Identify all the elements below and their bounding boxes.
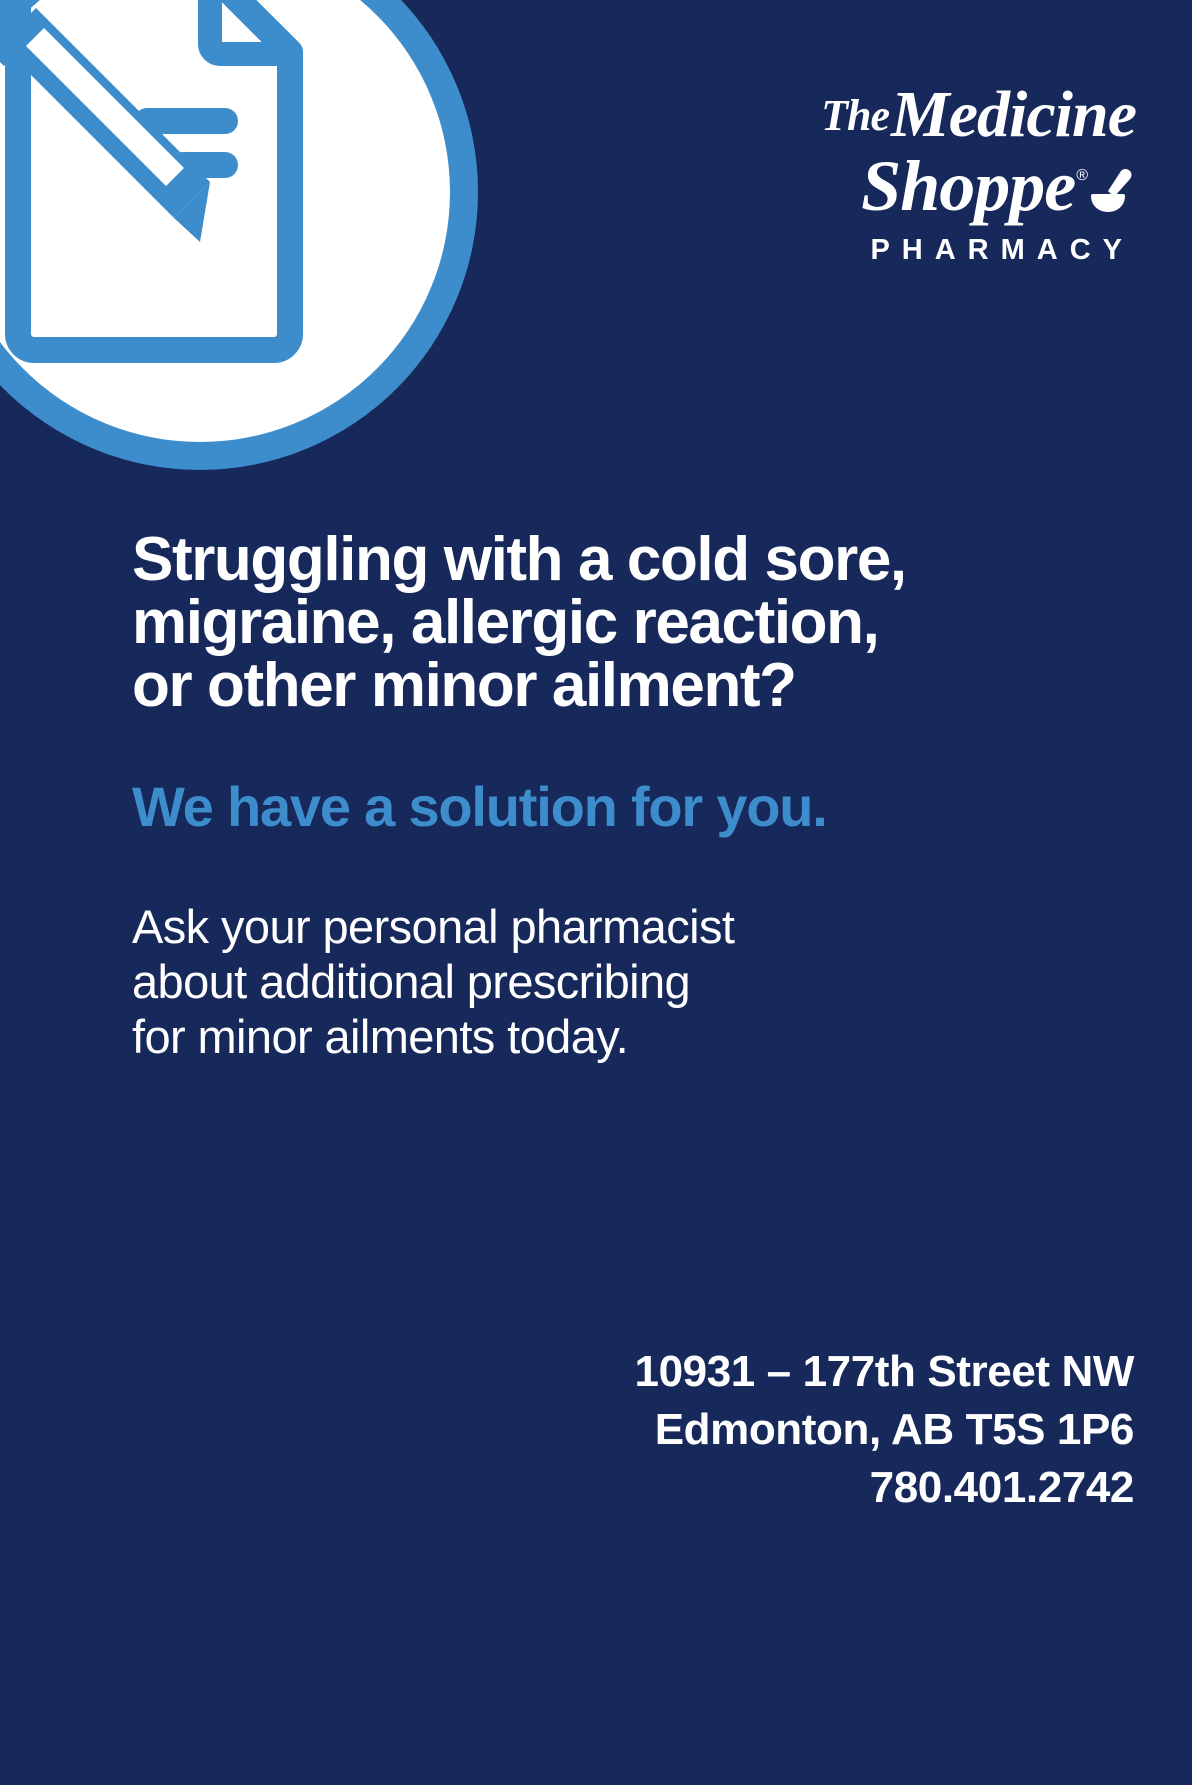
logo-pharmacy: PHARMACY [736, 236, 1136, 265]
logo-the: The [821, 91, 889, 140]
logo-line-shoppe: Shoppe® [736, 150, 1136, 222]
copy-block: Struggling with a cold sore, migraine, a… [132, 528, 982, 1065]
logo-line-medicine: TheMedicine [736, 82, 1136, 148]
body-line-2: about additional prescribing [132, 954, 982, 1009]
prescription-badge [0, 0, 478, 470]
prescription-document-pencil-icon [0, 0, 374, 380]
poster-canvas: TheMedicine Shoppe® PHARMACY Struggling … [0, 0, 1192, 1785]
brand-logo: TheMedicine Shoppe® PHARMACY [736, 82, 1136, 265]
headline-line-3: or other minor ailment? [132, 654, 952, 717]
body-copy: Ask your personal pharmacist about addit… [132, 837, 982, 1065]
headline-line-1: Struggling with a cold sore, [132, 528, 952, 591]
body-line-1: Ask your personal pharmacist [132, 899, 982, 954]
registered-trademark-icon: ® [1076, 167, 1088, 184]
store-address-block: 10931 – 177th Street NW Edmonton, AB T5S… [635, 1343, 1135, 1517]
address-city-postal: Edmonton, AB T5S 1P6 [635, 1401, 1135, 1459]
logo-medicine: Medicine [891, 78, 1136, 151]
headline-line-2: migraine, allergic reaction, [132, 591, 952, 654]
body-line-3: for minor ailments today. [132, 1009, 982, 1064]
store-phone-number[interactable]: 780.401.2742 [635, 1459, 1135, 1517]
headline: Struggling with a cold sore, migraine, a… [132, 528, 952, 718]
tagline: We have a solution for you. [132, 718, 982, 837]
logo-shoppe: Shoppe [861, 146, 1075, 226]
address-street: 10931 – 177th Street NW [635, 1343, 1135, 1401]
mortar-and-pestle-icon [1090, 168, 1136, 216]
